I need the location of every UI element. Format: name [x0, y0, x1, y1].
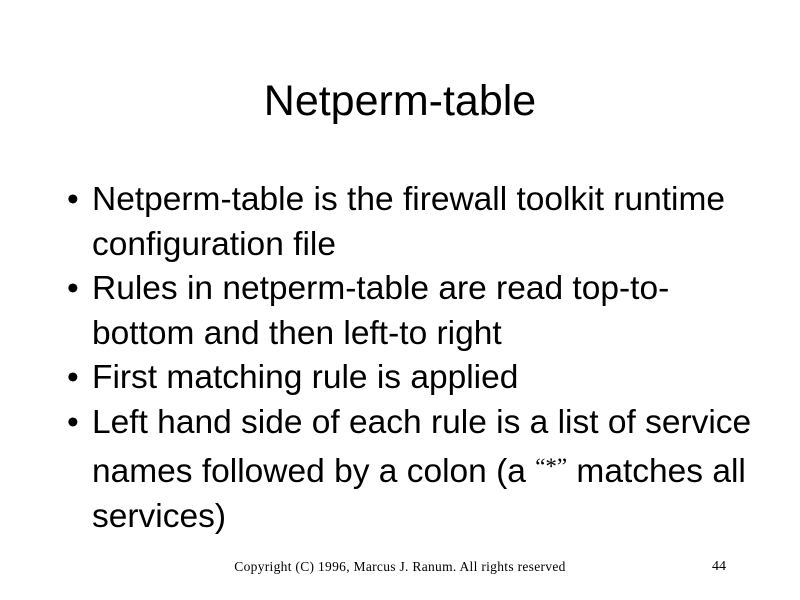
page-title: Netperm-table	[0, 76, 800, 126]
list-item-text: Netperm-table is the firewall toolkit ru…	[92, 178, 752, 267]
list-item: • Rules in netperm-table are read top-to…	[56, 267, 752, 356]
list-item: • Left hand side of each rule is a list …	[56, 401, 752, 540]
slide-canvas: Netperm-table • Netperm-table is the fir…	[0, 0, 800, 600]
list-item-text: Left hand side of each rule is a list of…	[92, 401, 752, 540]
bullet-dot-icon: •	[67, 267, 83, 312]
quoted-asterisk-token: “*”	[535, 454, 567, 479]
bullet-list: • Netperm-table is the firewall toolkit …	[56, 178, 756, 539]
bullet-dot-icon: •	[67, 356, 83, 401]
list-item: • First matching rule is applied	[56, 356, 752, 401]
page-number: 44	[712, 558, 726, 576]
list-item-text: First matching rule is applied	[92, 356, 752, 401]
list-item-text: Rules in netperm-table are read top-to-b…	[92, 267, 752, 356]
slide-footer: Copyright (C) 1996, Marcus J. Ranum. All…	[0, 558, 800, 580]
bullet-dot-icon: •	[67, 401, 83, 446]
copyright-notice: Copyright (C) 1996, Marcus J. Ranum. All…	[0, 558, 800, 576]
bullet-dot-icon: •	[67, 178, 83, 223]
list-item: • Netperm-table is the firewall toolkit …	[56, 178, 752, 267]
